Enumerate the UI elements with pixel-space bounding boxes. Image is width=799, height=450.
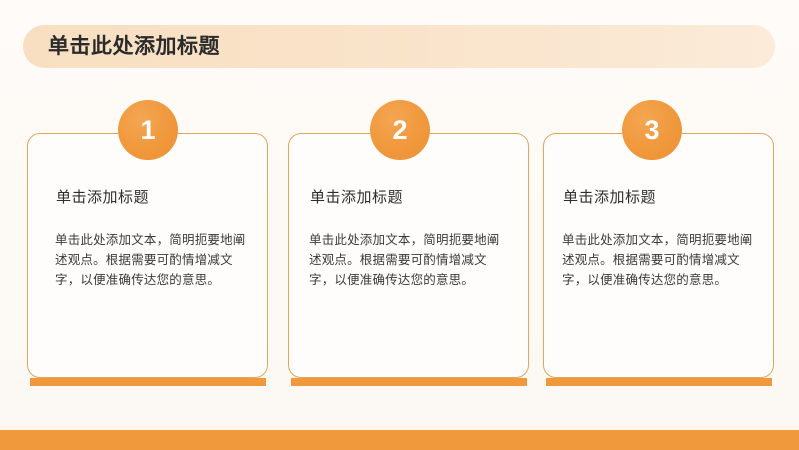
- step-badge-3: 3: [622, 100, 682, 160]
- card-heading-3[interactable]: 单击添加标题: [563, 186, 656, 207]
- card-body-1[interactable]: 单击此处添加文本，简明扼要地阐述观点。根据需要可酌情增减文字，以便准确传达您的意…: [55, 230, 247, 290]
- slide-canvas: 单击此处添加标题 1 单击添加标题 单击此处添加文本，简明扼要地阐述观点。根据需…: [0, 0, 799, 450]
- footer-band: [0, 430, 799, 450]
- card-heading-2[interactable]: 单击添加标题: [310, 186, 403, 207]
- card-accent-bar-1: [30, 378, 266, 386]
- card-body-2[interactable]: 单击此处添加文本，简明扼要地阐述观点。根据需要可酌情增减文字，以便准确传达您的意…: [309, 230, 501, 290]
- card-accent-bar-3: [546, 378, 772, 386]
- card-body-3[interactable]: 单击此处添加文本，简明扼要地阐述观点。根据需要可酌情增减文字，以便准确传达您的意…: [562, 230, 754, 290]
- card-group: 1 单击添加标题 单击此处添加文本，简明扼要地阐述观点。根据需要可酌情增减文字，…: [0, 0, 799, 450]
- card-heading-1[interactable]: 单击添加标题: [56, 186, 149, 207]
- step-badge-2: 2: [370, 100, 430, 160]
- step-badge-1: 1: [118, 100, 178, 160]
- card-accent-bar-2: [291, 378, 527, 386]
